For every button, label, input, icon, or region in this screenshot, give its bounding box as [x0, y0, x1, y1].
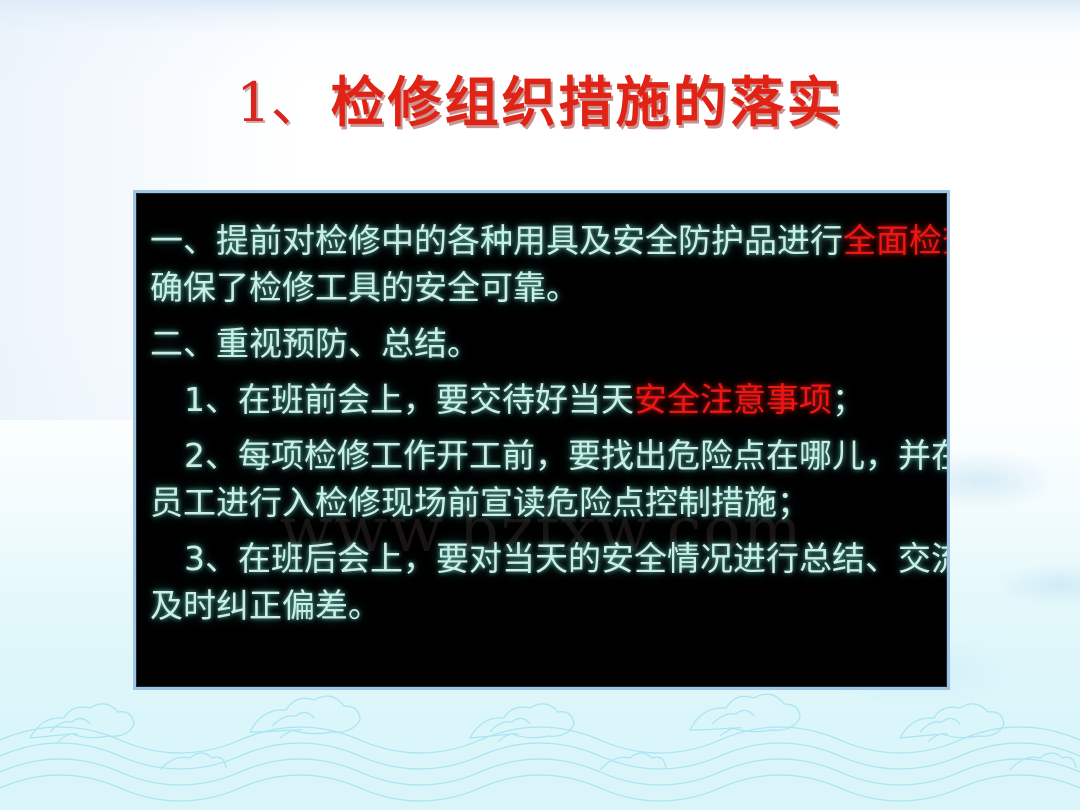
highlighted-text: 全面检查 — [843, 221, 950, 260]
content-panel: www.bzfxw.com 一、提前对检修中的各种用具及安全防护品进行全面检查，… — [133, 190, 950, 690]
title-text: 检修组织措施的落实 — [331, 71, 844, 134]
body-text: 二、重视预防、总结。 — [150, 324, 480, 363]
slide-title: 1、检修组织措施的落实 — [0, 58, 1080, 137]
content-line-section-one-line-2: 确保了检修工具的安全可靠。 — [150, 264, 933, 311]
body-text: 及时纠正偏差。 — [150, 586, 381, 625]
body-text: 1、在班前会上，要交待好当天 — [184, 380, 634, 419]
content-line-item-2-line-2: 员工进行入检修现场前宣读危险点控制措施； — [150, 479, 933, 526]
body-text: 确保了检修工具的安全可靠。 — [150, 268, 579, 307]
body-text: 2、每项检修工作开工前，要找出危险点在哪儿，并在 — [184, 436, 950, 475]
content-line-item-3-line-1: 3、在班后会上，要对当天的安全情况进行总结、交流， — [150, 535, 933, 582]
content-lines: 一、提前对检修中的各种用具及安全防护品进行全面检查，确保了检修工具的安全可靠。二… — [136, 193, 947, 629]
body-text: ； — [832, 380, 865, 419]
presentation-slide: 1、检修组织措施的落实 www.bzfxw.com 一、提前对检修中的各种用具及… — [0, 0, 1080, 810]
content-line-item-2-line-1: 2、每项检修工作开工前，要找出危险点在哪儿，并在 — [150, 432, 933, 479]
title-number: 1、 — [236, 71, 324, 134]
content-line-section-two-line-1: 二、重视预防、总结。 — [150, 320, 933, 367]
body-text: 一、提前对检修中的各种用具及安全防护品进行 — [150, 221, 843, 260]
content-line-item-3-line-2: 及时纠正偏差。 — [150, 582, 933, 629]
highlighted-text: 安全注意事项 — [634, 380, 832, 419]
body-text: 员工进行入检修现场前宣读危险点控制措施； — [150, 483, 810, 522]
content-line-item-1-line-1: 1、在班前会上，要交待好当天安全注意事项； — [150, 376, 933, 423]
content-line-section-one-line-1: 一、提前对检修中的各种用具及安全防护品进行全面检查， — [150, 217, 933, 264]
body-text: 3、在班后会上，要对当天的安全情况进行总结、交流， — [184, 539, 950, 578]
